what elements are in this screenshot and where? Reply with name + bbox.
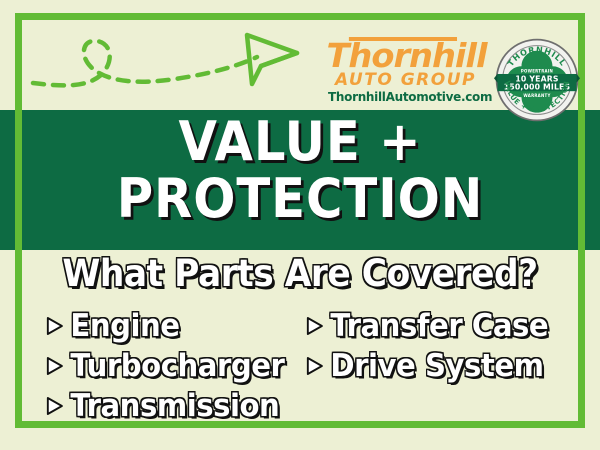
triangle-bullet-icon: [45, 355, 64, 377]
svg-text:WARRANTY: WARRANTY: [523, 93, 550, 98]
triangle-bullet-icon: [305, 355, 324, 377]
list-item-label: Engine: [70, 306, 179, 346]
list-item: Engine: [45, 306, 289, 346]
triangle-bullet-icon: [305, 315, 324, 337]
logo-underline-bar: [349, 37, 457, 41]
thornhill-logo: Thornhill AUTO GROUP ThornhillAutomotive…: [328, 40, 483, 105]
list-item: Drive System: [305, 346, 540, 386]
triangle-bullet-icon: [45, 395, 64, 417]
list-item-label: Drive System: [330, 346, 543, 386]
list-item: Turbocharger: [45, 346, 289, 386]
promo-banner: Thornhill AUTO GROUP ThornhillAutomotive…: [0, 0, 600, 450]
headline-line-2: PROTECTION: [24, 167, 576, 224]
dashed-arrow-path-icon: [25, 21, 310, 101]
list-item: Transfer Case: [305, 306, 540, 346]
headline-line-1: VALUE +: [24, 112, 576, 167]
list-item-label: Transfer Case: [330, 306, 548, 346]
covered-parts-left-column: Engine Turbocharger Transmission: [45, 306, 305, 426]
logo-wordmark: Thornhill: [326, 40, 484, 71]
svg-text:POWERTRAIN: POWERTRAIN: [521, 68, 553, 73]
headline: VALUE + PROTECTION: [0, 112, 600, 225]
logo-wordmark-text: Thornhill: [326, 36, 486, 75]
list-item-label: Transmission: [70, 386, 279, 426]
question-heading: What Parts Are Covered?: [21, 252, 579, 295]
triangle-bullet-icon: [45, 315, 64, 337]
warranty-badge-icon: THORNHILL POWERTRAIN 10 YEARS 150,000 MI…: [494, 37, 580, 123]
logo-website-url: ThornhillAutomotive.com: [328, 90, 483, 105]
list-item-label: Turbocharger: [70, 346, 284, 386]
list-item: Transmission: [45, 386, 289, 426]
covered-parts-lists: Engine Turbocharger Transmission Tran: [45, 306, 565, 426]
banner-header: Thornhill AUTO GROUP ThornhillAutomotive…: [15, 13, 585, 110]
covered-parts-right-column: Transfer Case Drive System: [305, 306, 555, 426]
